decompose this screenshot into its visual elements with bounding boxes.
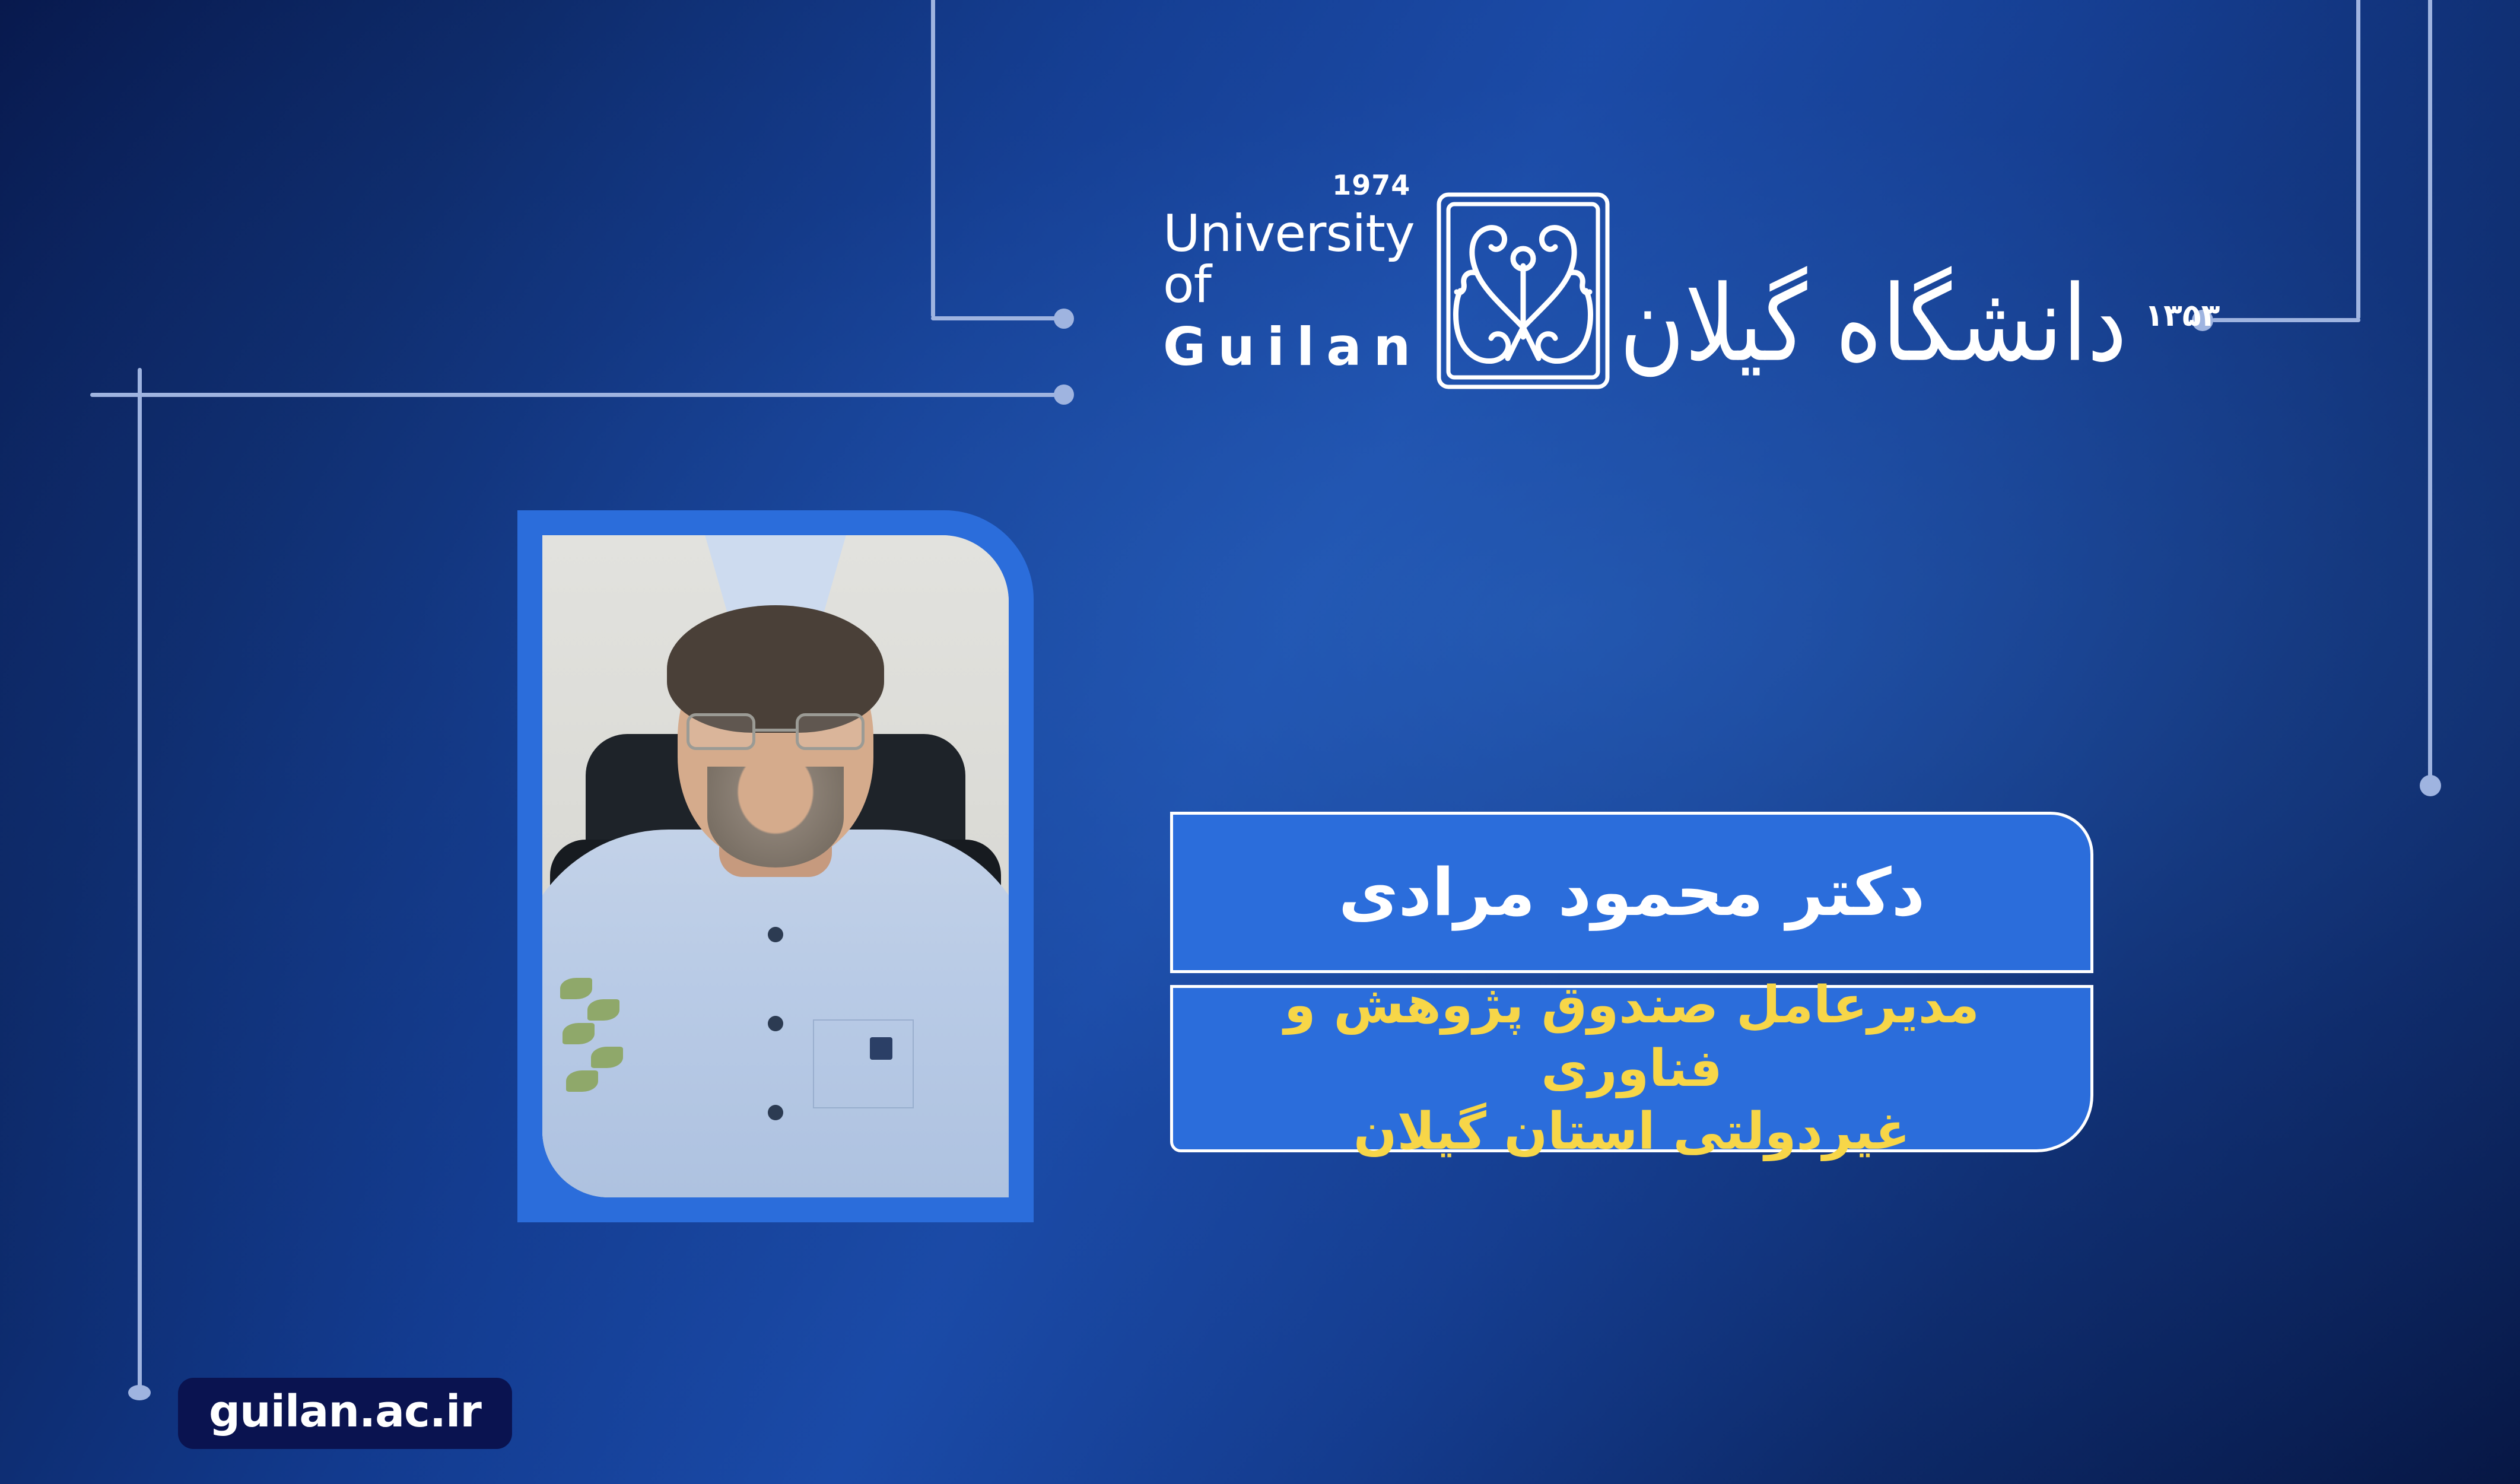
person-title-line2: غیردولتی استان گیلان: [1215, 1100, 2049, 1164]
logo-gregorian-year: 1974: [1332, 171, 1410, 199]
deco-line-right-short-vertical: [2356, 0, 2360, 319]
person-name-banner: دکتر محمود مرادی: [1170, 812, 2093, 973]
deco-dot-left-horizontal-end: [1054, 384, 1074, 405]
website-url-badge[interactable]: guilan.ac.ir: [178, 1378, 512, 1449]
guilan-butterfly-emblem-icon: [1434, 190, 1612, 392]
logo-english-block: 1974 University of Guilan: [1163, 208, 1422, 373]
logo-persian-year: ۱۳۵۳: [2144, 298, 2220, 333]
deco-dot-top-left: [1054, 309, 1074, 329]
poster-canvas: 1974 University of Guilan: [0, 0, 2520, 1484]
deco-line-top-left-vertical: [931, 0, 935, 317]
deco-dot-left-vertical-end: [128, 1385, 151, 1400]
deco-line-left-vertical: [138, 368, 142, 1394]
portrait-photo: [542, 535, 1009, 1197]
logo-persian-block: ۱۳۵۳ دانشگاه گیلان: [1619, 221, 2225, 361]
deco-line-left-horizontal: [90, 393, 1063, 397]
logo-english-line2: Guilan: [1163, 321, 1422, 373]
logo-persian-name: دانشگاه گیلان: [1619, 272, 2127, 377]
university-logo: 1974 University of Guilan: [1163, 178, 2124, 403]
deco-line-right-long-vertical: [2428, 0, 2432, 783]
deco-line-top-left-horizontal: [931, 316, 1063, 320]
portrait-photo-frame: [517, 510, 1034, 1222]
person-title-line1: مدیرعامل صندوق پژوهش و فناوری: [1215, 974, 2049, 1100]
person-name: دکتر محمود مرادی: [1339, 860, 1925, 925]
person-title: مدیرعامل صندوق پژوهش و فناوری غیردولتی ا…: [1215, 974, 2049, 1164]
person-title-banner: مدیرعامل صندوق پژوهش و فناوری غیردولتی ا…: [1170, 985, 2093, 1152]
logo-english-line1: University of: [1163, 208, 1422, 310]
deco-dot-right-vertical-end: [2420, 775, 2441, 796]
deco-line-right-horizontal: [2212, 318, 2360, 322]
